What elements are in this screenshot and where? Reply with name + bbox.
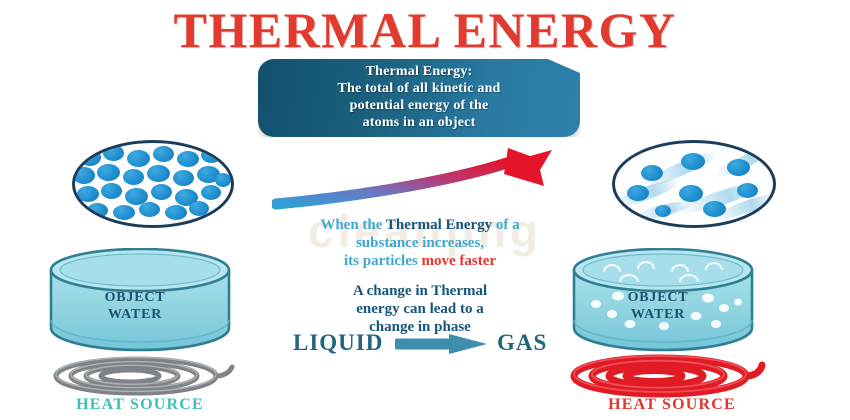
phase-arrow-icon [395,333,491,355]
heat-source-coil-right [566,354,766,400]
stmt1-seg3: of a [492,217,520,233]
page-title: THERMAL ENERGY [0,2,850,58]
infographic-canvas: cleanpng THERMAL ENERGY Thermal Energy: … [0,0,850,420]
transformation-arrow-icon [272,148,572,214]
stmt2-line2: energy can lead to a [255,300,585,318]
phase-label-gas: GAS [497,330,547,356]
phase-transition-row: LIQUID GAS [255,328,585,358]
heat-source-coil-left [48,356,238,398]
statement-thermal-energy-increase: When the Thermal Energy of a substance i… [255,216,585,270]
beaker-right [568,248,758,356]
beaker-left [45,248,235,356]
stmt2-line1: A change in Thermal [255,282,585,300]
definition-line-3: potential energy of the [258,97,580,114]
definition-line-4: atoms in an object [258,114,580,131]
phase-label-liquid: LIQUID [293,330,383,356]
definition-callout-text: Thermal Energy: The total of all kinetic… [258,63,580,131]
heat-source-label-left: HEAT SOURCE [30,396,250,414]
gas-state-particle-diagram [612,140,776,228]
stmt1-seg1: When the [320,217,386,233]
liquid-state-particle-diagram [72,140,234,228]
stmt1-seg4: substance increases, [255,234,585,252]
stmt1-seg5: its particles [344,253,421,269]
heat-source-label-right: HEAT SOURCE [562,396,782,414]
stmt1-seg2: Thermal Energy [386,217,492,233]
stmt1-seg6: move faster [421,253,496,269]
definition-line-2: The total of all kinetic and [258,80,580,97]
definition-line-1: Thermal Energy: [258,63,580,80]
